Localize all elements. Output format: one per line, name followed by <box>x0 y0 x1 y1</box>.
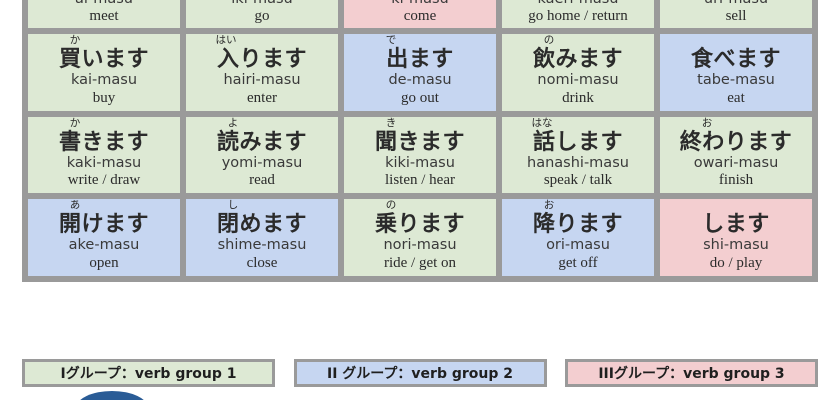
verb-japanese-wrap: き聞きます <box>346 119 494 153</box>
verb-cell[interactable]: 食べますtabe-masueat <box>657 31 815 114</box>
decorative-ellipse <box>76 391 148 400</box>
verb-table-body: 会いますai-masumeet行きますiki-masugo来ますki-masuc… <box>25 0 815 279</box>
verb-cell[interactable]: か書きますkaki-masuwrite / draw <box>25 114 183 197</box>
verb-romaji: ori-masu <box>504 238 652 253</box>
verb-japanese: 聞きます <box>346 132 494 154</box>
verb-japanese: 乗ります <box>346 214 494 236</box>
verb-meaning: ride / get on <box>346 256 494 271</box>
verb-meaning: buy <box>30 91 178 106</box>
verb-meaning: write / draw <box>30 173 178 188</box>
verb-romaji: shi-masu <box>662 238 810 253</box>
verb-group-legend: Iグループ：verb group 1II グループ：verb group 2II… <box>22 359 818 387</box>
verb-romaji: nomi-masu <box>504 73 652 88</box>
verb-table-row: 会いますai-masumeet行きますiki-masugo来ますki-masuc… <box>25 0 815 31</box>
verb-meaning: drink <box>504 91 652 106</box>
verb-japanese: します <box>662 214 810 236</box>
verb-cell[interactable]: で出ますde-masugo out <box>341 31 499 114</box>
verb-cell[interactable]: し閉めますshime-masuclose <box>183 196 341 279</box>
furigana-reading: はな <box>532 118 553 129</box>
verb-romaji: kaki-masu <box>30 156 178 171</box>
verb-japanese-wrap: あ開けます <box>30 201 178 235</box>
verb-table-row: か買いますkai-masubuyはい入りますhairi-masuenterで出ま… <box>25 31 815 114</box>
verb-japanese: 降ります <box>504 214 652 236</box>
furigana-reading: よ <box>228 118 239 129</box>
verb-japanese-wrap: よ読みます <box>188 119 336 153</box>
verb-cell[interactable]: の乗りますnori-masuride / get on <box>341 196 499 279</box>
verb-romaji: iki-masu <box>188 0 336 6</box>
verb-japanese: 読みます <box>188 132 336 154</box>
verb-table: 会いますai-masumeet行きますiki-masugo来ますki-masuc… <box>22 0 818 282</box>
verb-romaji: ake-masu <box>30 238 178 253</box>
verb-cell[interactable]: お降りますori-masuget off <box>499 196 657 279</box>
verb-meaning: eat <box>662 91 810 106</box>
verb-meaning: close <box>188 256 336 271</box>
verb-cell[interactable]: はい入りますhairi-masuenter <box>183 31 341 114</box>
verb-romaji: hairi-masu <box>188 73 336 88</box>
verb-romaji: tabe-masu <box>662 73 810 88</box>
furigana-reading: し <box>228 200 239 211</box>
furigana-reading: か <box>70 35 81 46</box>
verb-japanese: 入ります <box>188 49 336 71</box>
verb-japanese: 飲みます <box>504 49 652 71</box>
furigana-reading: はい <box>216 35 237 46</box>
verb-japanese: 出ます <box>346 49 494 71</box>
verb-cell[interactable]: 帰りますkaeri-masugo home / return <box>499 0 657 31</box>
legend-item-g1[interactable]: Iグループ：verb group 1 <box>22 359 275 387</box>
verb-japanese-wrap: はい入ります <box>188 36 336 70</box>
verb-romaji: nori-masu <box>346 238 494 253</box>
verb-table-row: あ開けますake-masuopenし閉めますshime-masucloseの乗り… <box>25 196 815 279</box>
verb-meaning: go <box>188 9 336 24</box>
verb-chart-page: 会いますai-masumeet行きますiki-masugo来ますki-masuc… <box>0 0 840 400</box>
verb-meaning: speak / talk <box>504 173 652 188</box>
verb-romaji: uri-masu <box>662 0 810 6</box>
legend-item-g2[interactable]: II グループ：verb group 2 <box>294 359 547 387</box>
furigana-reading: か <box>70 118 81 129</box>
verb-cell[interactable]: 会いますai-masumeet <box>25 0 183 31</box>
verb-japanese-wrap: はな話します <box>504 119 652 153</box>
verb-cell[interactable]: か買いますkai-masubuy <box>25 31 183 114</box>
furigana-reading: で <box>386 35 397 46</box>
verb-japanese: 買います <box>30 49 178 71</box>
furigana-reading: お <box>702 118 713 129</box>
verb-meaning: do / play <box>662 256 810 271</box>
verb-romaji: kiki-masu <box>346 156 494 171</box>
verb-meaning: go home / return <box>504 9 652 24</box>
verb-japanese-wrap: お終わります <box>662 119 810 153</box>
verb-japanese: 話します <box>504 132 652 154</box>
verb-cell[interactable]: 売りますuri-masusell <box>657 0 815 31</box>
verb-romaji: de-masu <box>346 73 494 88</box>
verb-japanese: 開けます <box>30 214 178 236</box>
verb-japanese: 閉めます <box>188 214 336 236</box>
furigana-reading: お <box>544 200 555 211</box>
verb-romaji: hanashi-masu <box>504 156 652 171</box>
verb-cell[interactable]: あ開けますake-masuopen <box>25 196 183 279</box>
furigana-reading: の <box>386 200 397 211</box>
verb-cell[interactable]: き聞きますkiki-masulisten / hear <box>341 114 499 197</box>
verb-japanese-wrap: か書きます <box>30 119 178 153</box>
verb-japanese-wrap: お降ります <box>504 201 652 235</box>
verb-cell[interactable]: よ読みますyomi-masuread <box>183 114 341 197</box>
verb-japanese-wrap: 食べます <box>662 36 810 70</box>
verb-meaning: finish <box>662 173 810 188</box>
verb-japanese: 書きます <box>30 132 178 154</box>
verb-japanese: 終わります <box>662 132 810 154</box>
verb-cell[interactable]: 来ますki-masucome <box>341 0 499 31</box>
verb-meaning: meet <box>30 9 178 24</box>
verb-japanese-wrap: の乗ります <box>346 201 494 235</box>
verb-cell[interactable]: 行きますiki-masugo <box>183 0 341 31</box>
verb-cell[interactable]: しますshi-masudo / play <box>657 196 815 279</box>
verb-meaning: go out <box>346 91 494 106</box>
verb-meaning: enter <box>188 91 336 106</box>
verb-meaning: come <box>346 9 494 24</box>
furigana-reading: の <box>544 35 555 46</box>
verb-japanese-wrap: します <box>662 201 810 235</box>
verb-romaji: ki-masu <box>346 0 494 6</box>
verb-table-row: か書きますkaki-masuwrite / drawよ読みますyomi-masu… <box>25 114 815 197</box>
verb-japanese-wrap: し閉めます <box>188 201 336 235</box>
verb-japanese-wrap: の飲みます <box>504 36 652 70</box>
verb-romaji: kaeri-masu <box>504 0 652 6</box>
verb-meaning: read <box>188 173 336 188</box>
verb-romaji: ai-masu <box>30 0 178 6</box>
verb-cell[interactable]: お終わりますowari-masufinish <box>657 114 815 197</box>
verb-japanese: 食べます <box>662 49 810 71</box>
verb-romaji: owari-masu <box>662 156 810 171</box>
verb-japanese-wrap: で出ます <box>346 36 494 70</box>
verb-meaning: open <box>30 256 178 271</box>
legend-item-g3[interactable]: IIIグループ：verb group 3 <box>565 359 818 387</box>
verb-meaning: listen / hear <box>346 173 494 188</box>
furigana-reading: き <box>386 118 397 129</box>
verb-romaji: kai-masu <box>30 73 178 88</box>
verb-cell[interactable]: はな話しますhanashi-masuspeak / talk <box>499 114 657 197</box>
furigana-reading: あ <box>70 200 81 211</box>
verb-romaji: yomi-masu <box>188 156 336 171</box>
verb-japanese-wrap: か買います <box>30 36 178 70</box>
verb-cell[interactable]: の飲みますnomi-masudrink <box>499 31 657 114</box>
verb-romaji: shime-masu <box>188 238 336 253</box>
verb-meaning: get off <box>504 256 652 271</box>
verb-meaning: sell <box>662 9 810 24</box>
